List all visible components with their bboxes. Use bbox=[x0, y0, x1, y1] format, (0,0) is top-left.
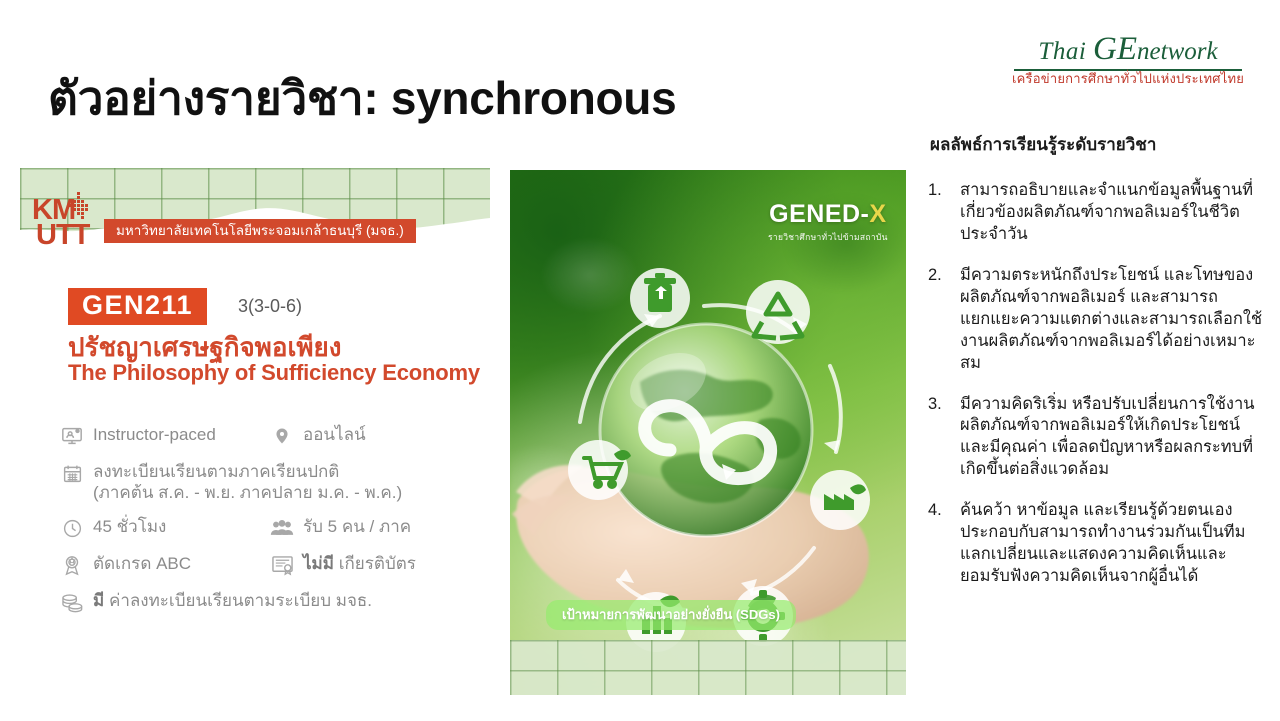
brand-network: network bbox=[1137, 38, 1218, 65]
course-code-badge: GEN211 bbox=[68, 288, 207, 325]
detail-mode-text: Instructor-paced bbox=[93, 424, 216, 446]
award-icon bbox=[60, 553, 84, 577]
course-details: Instructor-paced ออนไลน์ bbox=[60, 424, 480, 627]
list-item-text: สามารถอธิบายและจำแนกข้อมูลพื้นฐานที่เกี่… bbox=[960, 180, 1268, 246]
recycle-icon bbox=[746, 280, 810, 344]
page-title: ตัวอย่างรายวิชา: synchronous bbox=[48, 62, 676, 135]
brand-wordmark: Thai GEnetwork bbox=[1012, 33, 1244, 66]
detail-row-hours-capacity: 45 ชั่วโมง รับ 5 คน / ภาค bbox=[60, 516, 480, 540]
course-credits: 3(3-0-6) bbox=[238, 296, 302, 317]
list-item-number: 1. bbox=[928, 180, 960, 246]
university-name-ribbon: มหาวิทยาลัยเทคโนโลยีพระจอมเกล้าธนบุรี (ม… bbox=[104, 219, 416, 243]
detail-row-mode: Instructor-paced ออนไลน์ bbox=[60, 424, 480, 448]
detail-row-registration: ลงทะเบียนเรียนตามภาคเรียนปกติ (ภาคต้น ส.… bbox=[60, 461, 480, 503]
location-pin-icon bbox=[270, 424, 294, 448]
list-item-text: ค้นคว้า หาข้อมูล และเรียนรู้ด้วยตนเองประ… bbox=[960, 500, 1268, 588]
brand-thai: Thai bbox=[1038, 38, 1086, 65]
clock-icon bbox=[60, 516, 84, 540]
sdg-caption: เป้าหมายการพัฒนาอย่างยั่งยืน (SDGs) bbox=[546, 600, 796, 630]
detail-grade-text: ตัดเกรด ABC bbox=[93, 553, 191, 575]
kmutt-logo-bottom: UTT bbox=[36, 223, 112, 248]
people-icon bbox=[270, 516, 294, 540]
learning-outcomes-list: 1. สามารถอธิบายและจำแนกข้อมูลพื้นฐานที่เ… bbox=[928, 180, 1268, 607]
list-item-number: 4. bbox=[928, 500, 960, 588]
list-item-text: มีความคิดริเริ่ม หรือปรับเปลี่ยนการใช้งา… bbox=[960, 394, 1268, 482]
detail-certificate-text: เกียรติบัตร bbox=[339, 554, 416, 573]
list-item-number: 2. bbox=[928, 265, 960, 375]
calendar-icon bbox=[60, 461, 84, 485]
detail-capacity-text: รับ 5 คน / ภาค bbox=[303, 516, 411, 538]
factory-icon bbox=[810, 470, 870, 530]
learning-outcomes-heading: ผลลัพธ์การเรียนรู้ระดับรายวิชา bbox=[930, 131, 1156, 158]
detail-registration-line1: ลงทะเบียนเรียนตามภาคเรียนปกติ bbox=[93, 462, 402, 483]
list-item: 1. สามารถอธิบายและจำแนกข้อมูลพื้นฐานที่เ… bbox=[928, 180, 1268, 246]
thai-ge-network-logo: Thai GEnetwork เครือข่ายการศึกษาทั่วไปแห… bbox=[1012, 33, 1244, 86]
detail-certificate-bold: ไม่มี bbox=[303, 554, 334, 573]
brand-subtitle: เครือข่ายการศึกษาทั่วไปแห่งประเทศไทย bbox=[1012, 72, 1244, 86]
detail-row-fee: มี ค่าลงทะเบียนเรียนตามระเบียบ มจธ. bbox=[60, 590, 480, 614]
detail-registration-line2: (ภาคต้น ส.ค. - พ.ย. ภาคปลาย ม.ค. - พ.ค.) bbox=[93, 483, 402, 504]
slide-root: Thai GEnetwork เครือข่ายการศึกษาทั่วไปแห… bbox=[0, 0, 1280, 721]
kmutt-logo: KM UTT bbox=[32, 198, 112, 266]
kmutt-cross-icon bbox=[66, 192, 92, 226]
course-name-english: The Philosophy of Sufficiency Economy bbox=[68, 360, 480, 386]
list-item-text: มีความตระหนักถึงประโยชน์ และโทษของผลิตภั… bbox=[960, 265, 1268, 375]
detail-hours-text: 45 ชั่วโมง bbox=[93, 516, 166, 538]
list-item: 3. มีความคิดริเริ่ม หรือปรับเปลี่ยนการใช… bbox=[928, 394, 1268, 482]
coins-icon bbox=[60, 590, 84, 614]
brand-ge: GE bbox=[1093, 31, 1137, 67]
list-item: 2. มีความตระหนักถึงประโยชน์ และโทษของผลิ… bbox=[928, 265, 1268, 375]
photo-grid-wave-mask bbox=[510, 635, 906, 695]
certificate-icon bbox=[270, 553, 294, 577]
list-item: 4. ค้นคว้า หาข้อมูล และเรียนรู้ด้วยตนเอง… bbox=[928, 500, 1268, 588]
course-photo: GENED-X รายวิชาศึกษาทั่วไปข้ามสถาบัน bbox=[510, 170, 906, 695]
instructor-paced-icon bbox=[60, 424, 84, 448]
trash-bin-icon bbox=[630, 268, 690, 328]
detail-fee-text: ค่าลงทะเบียนเรียนตามระเบียบ มจธ. bbox=[109, 591, 372, 610]
glass-globe bbox=[600, 324, 812, 536]
detail-row-grade-certificate: ตัดเกรด ABC ไม่มี เกียรติบัตร bbox=[60, 553, 480, 577]
detail-fee-bold: มี bbox=[93, 591, 104, 610]
detail-location-text: ออนไลน์ bbox=[303, 424, 366, 446]
list-item-number: 3. bbox=[928, 394, 960, 482]
